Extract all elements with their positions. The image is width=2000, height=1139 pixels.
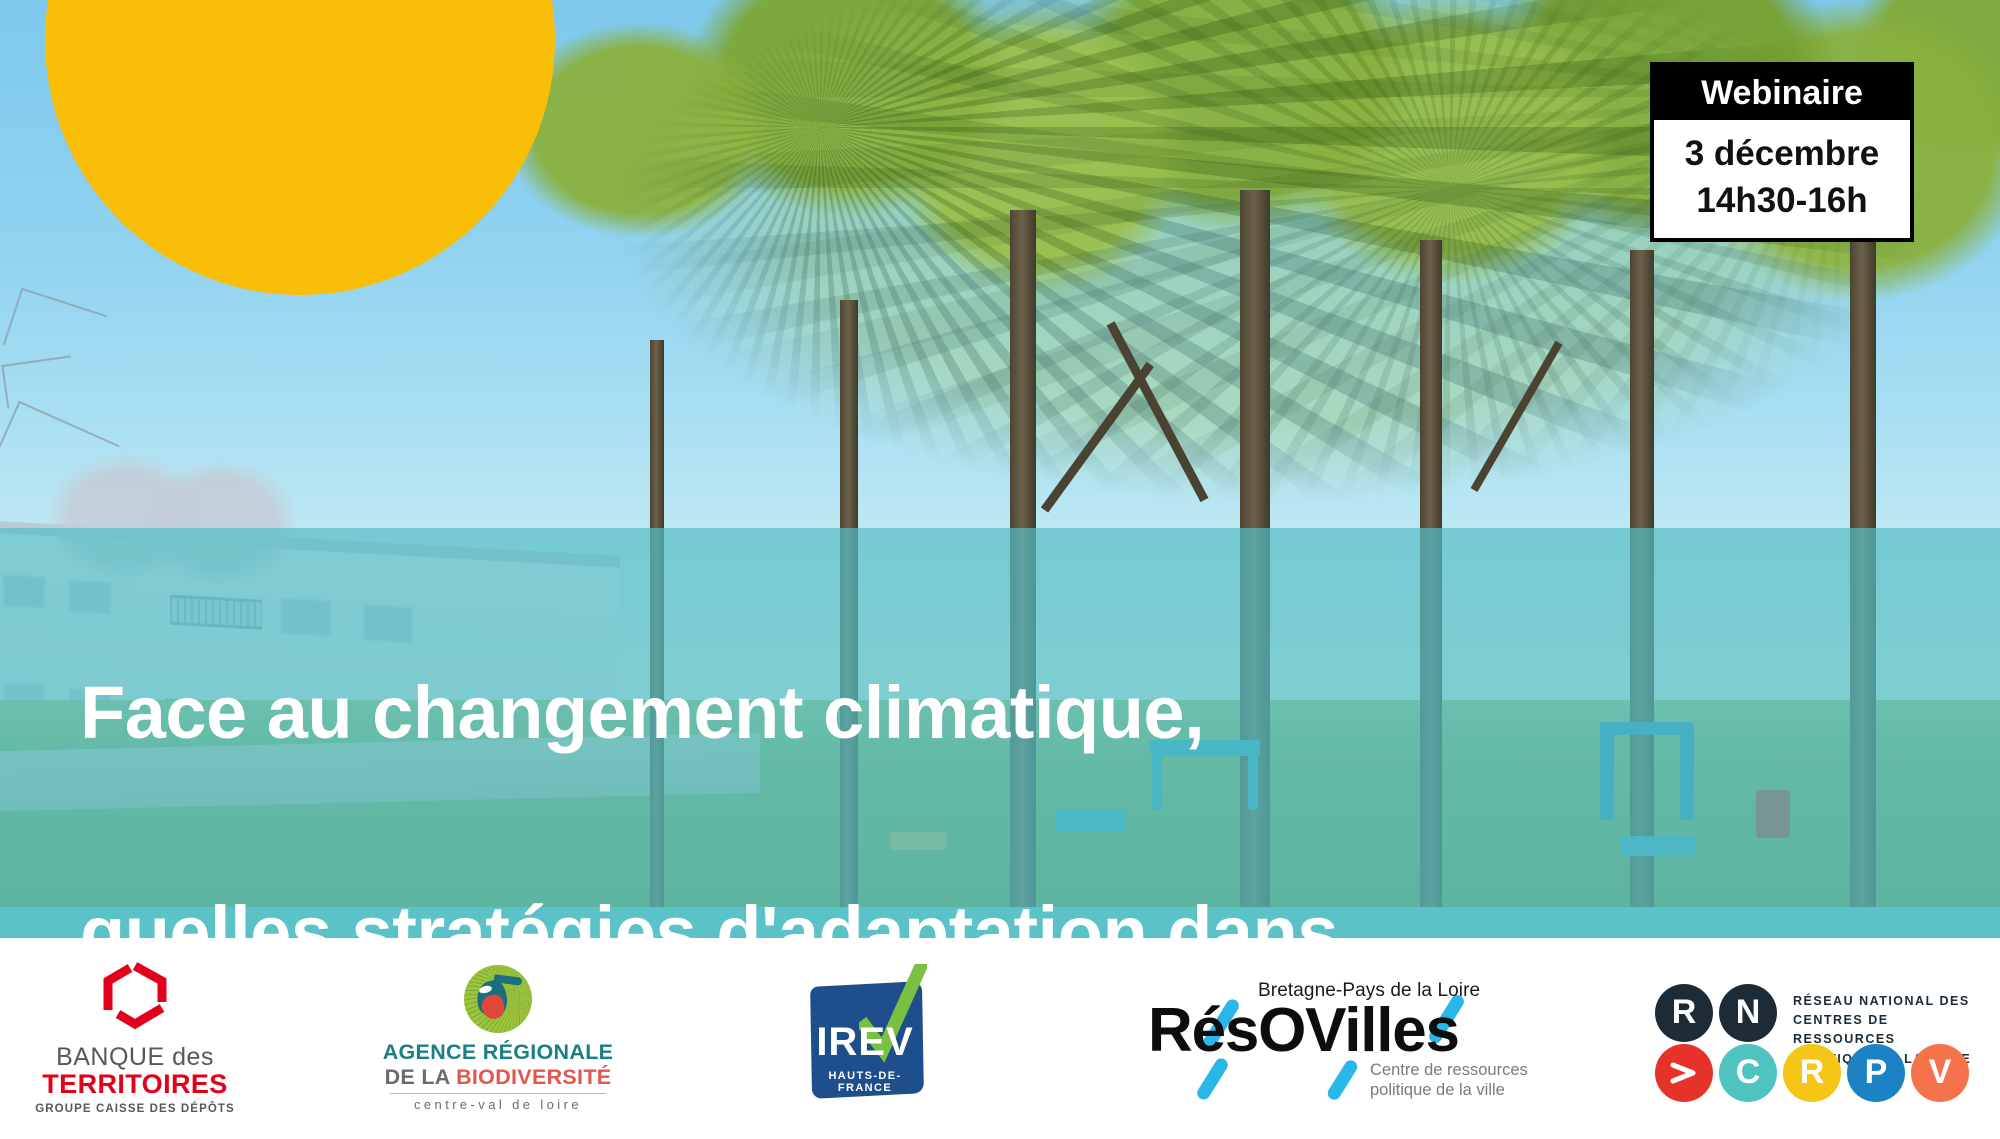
logo-agence-regionale-biodiversite: AGENCE RÉGIONALE DE LA BIODIVERSITÉ cent… xyxy=(368,938,628,1139)
bdt-banque: BANQUE xyxy=(56,1043,165,1071)
rn-circle-r: R xyxy=(1655,984,1713,1042)
arb-biodiversite: BIODIVERSITÉ xyxy=(456,1065,611,1089)
partner-logo-bar: BANQUE des TERRITOIRES GROUPE CAISSE DES… xyxy=(0,938,2000,1139)
logo-rncrpv: R N RÉSEAU NATIONAL DES CENTRES DE RESSO… xyxy=(1648,938,1988,1139)
logo-resovilles: Bretagne-Pays de la Loire RésOVilles Cen… xyxy=(1130,938,1550,1139)
badge-time: 14h30-16h xyxy=(1660,177,1904,224)
bdt-des: des xyxy=(165,1043,214,1071)
divider xyxy=(390,1093,606,1094)
irev-mark: IREV HAUTS-DE-FRANCE xyxy=(807,978,933,1100)
chevron-right-icon xyxy=(1669,1061,1699,1085)
rn-circle-n: N xyxy=(1719,984,1777,1042)
webinar-badge: Webinaire 3 décembre 14h30-16h xyxy=(1650,62,1914,242)
resovilles-subtitle: Centre de ressources politique de la vil… xyxy=(1370,1060,1528,1100)
irev-name: IREV xyxy=(807,1022,923,1062)
title-line-1: Face au changement climatique, xyxy=(80,658,1640,768)
logo-banque-des-territoires: BANQUE des TERRITOIRES GROUPE CAISSE DES… xyxy=(10,938,260,1139)
rn-circle-c: C xyxy=(1719,1044,1777,1102)
resovilles-mark: Bretagne-Pays de la Loire RésOVilles Cen… xyxy=(1140,980,1540,1098)
rn-circle-v: V xyxy=(1911,1044,1969,1102)
kingfisher-leaf-icon xyxy=(464,965,532,1033)
rn-circle-p: P xyxy=(1847,1044,1905,1102)
rncrpv-mark: R N RÉSEAU NATIONAL DES CENTRES DE RESSO… xyxy=(1653,978,1983,1100)
resovilles-name: RésOVilles xyxy=(1148,1000,1459,1062)
resovilles-sub-2: politique de la ville xyxy=(1370,1080,1528,1100)
arb-region: centre-val de loire xyxy=(414,1097,582,1112)
irev-text: IREV HAUTS-DE-FRANCE xyxy=(807,1022,923,1094)
badge-date: 3 décembre xyxy=(1660,130,1904,177)
badge-heading: Webinaire xyxy=(1654,66,1910,120)
rncrpv-line-1: RÉSEAU NATIONAL DES xyxy=(1793,992,1983,1011)
webinar-poster: Face au changement climatique, quelles s… xyxy=(0,0,2000,1139)
bdt-line-1: BANQUE des xyxy=(56,1044,214,1070)
irev-region: HAUTS-DE-FRANCE xyxy=(807,1070,923,1094)
badge-body: 3 décembre 14h30-16h xyxy=(1654,120,1910,238)
hexagon-icon xyxy=(102,962,168,1036)
arb-line-2: DE LA BIODIVERSITÉ xyxy=(385,1065,612,1089)
logo-irev: IREV HAUTS-DE-FRANCE xyxy=(770,938,970,1139)
rn-circle-r2: R xyxy=(1783,1044,1841,1102)
bdt-territoires: TERRITOIRES xyxy=(42,1070,227,1100)
rncrpv-line-2: CENTRES DE RESSOURCES xyxy=(1793,1011,1983,1050)
bdt-groupe: GROUPE CAISSE DES DÉPÔTS xyxy=(35,1103,235,1115)
arb-dela: DE LA xyxy=(385,1065,456,1089)
resovilles-sub-1: Centre de ressources xyxy=(1370,1060,1528,1080)
rn-circle-arrow xyxy=(1655,1044,1713,1102)
bird-breast xyxy=(480,994,506,1021)
arb-line-1: AGENCE RÉGIONALE xyxy=(383,1040,614,1064)
